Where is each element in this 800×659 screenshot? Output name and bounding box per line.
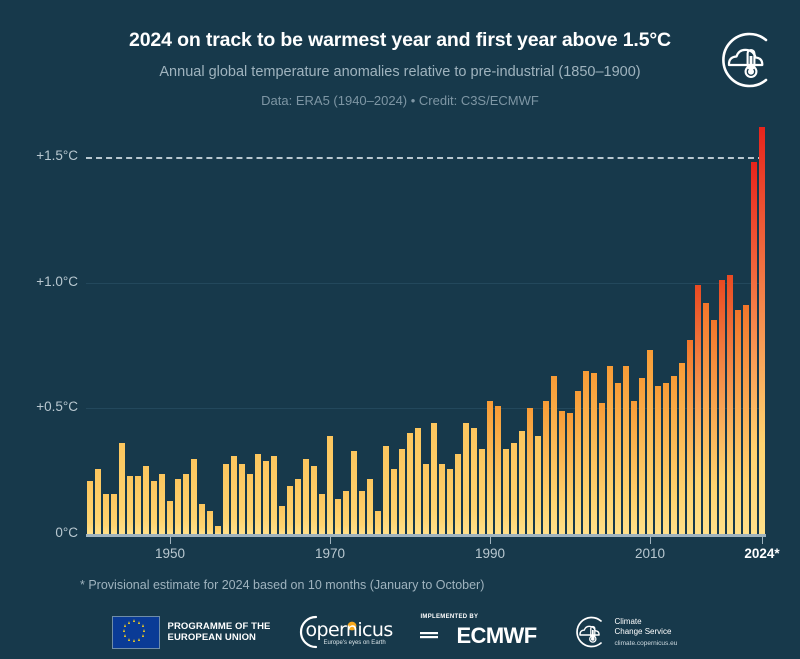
bar-1971 (335, 499, 341, 534)
c3s-logo: Climate Change Service climate.copernicu… (570, 611, 688, 653)
bar-1940 (87, 481, 93, 534)
bar-2017 (703, 303, 709, 534)
bar-2013 (671, 376, 677, 534)
c3s-logo-text: Climate Change Service climate.copernicu… (614, 617, 677, 647)
eu-star-icon (138, 638, 140, 641)
x-axis-tick-label: 1990 (475, 546, 505, 561)
bar-1945 (127, 476, 133, 534)
ecmwf-logo: IMPLEMENTED BY ECMWF (418, 612, 544, 652)
bar-1958 (231, 456, 237, 534)
eu-star-icon (123, 629, 125, 632)
bar-1962 (263, 461, 269, 534)
bar-1943 (111, 494, 117, 534)
bar-1952 (183, 474, 189, 534)
bar-1964 (279, 506, 285, 534)
bar-2022 (743, 305, 749, 534)
copernicus-wordmark: opernicus (305, 619, 392, 641)
bar-1988 (471, 428, 477, 534)
bar-1966 (295, 479, 301, 534)
cloud-thermometer-icon (710, 26, 778, 94)
bar-1967 (303, 459, 309, 534)
bar-2007 (623, 366, 629, 535)
bar-1995 (527, 408, 533, 534)
bar-1999 (559, 411, 565, 534)
bar-1990 (487, 401, 493, 534)
bar-1997 (543, 401, 549, 534)
x-axis-tick-label: 2024* (744, 546, 779, 561)
eu-star-icon (128, 621, 130, 624)
bar-2000 (567, 413, 573, 534)
bar-1991 (495, 406, 501, 534)
bar-1972 (343, 491, 349, 534)
bar-1986 (455, 454, 461, 534)
bar-1981 (415, 428, 421, 534)
bar-1982 (423, 464, 429, 534)
bar-1984 (439, 464, 445, 534)
bar-1996 (535, 436, 541, 534)
bar-series (86, 130, 766, 560)
bar-1998 (551, 376, 557, 534)
bar-1959 (239, 464, 245, 534)
bar-1970 (327, 436, 333, 534)
bar-1980 (407, 433, 413, 534)
bar-1973 (351, 451, 357, 534)
eu-star-icon (133, 639, 135, 642)
bar-1993 (511, 443, 517, 534)
footnote: * Provisional estimate for 2024 based on… (80, 578, 484, 592)
bar-2004 (599, 403, 605, 534)
bar-1957 (223, 464, 229, 534)
bar-2016 (695, 285, 701, 534)
bar-1961 (255, 454, 261, 534)
bar-2008 (631, 401, 637, 534)
eu-programme-logo: PROGRAMME OF THE EUROPEAN UNION (112, 611, 271, 653)
x-axis-tick-label: 1970 (315, 546, 345, 561)
bar-1976 (375, 511, 381, 534)
bar-2012 (663, 383, 669, 534)
chart-header: 2024 on track to be warmest year and fir… (0, 0, 800, 120)
bar-1949 (159, 474, 165, 534)
bar-1969 (319, 494, 325, 534)
x-axis-baseline (86, 534, 766, 537)
x-axis-tick (650, 537, 651, 544)
data-credit-line: Data: ERA5 (1940–2024) • Credit: C3S/ECM… (0, 93, 800, 108)
eu-star-icon (142, 634, 144, 637)
x-axis-tick (170, 537, 171, 544)
bar-1948 (151, 481, 157, 534)
c3s-line1: Climate (614, 617, 677, 627)
bar-1968 (311, 466, 317, 534)
c3s-url: climate.copernicus.eu (614, 640, 677, 647)
bar-2021 (735, 310, 741, 534)
bar-1947 (143, 466, 149, 534)
eu-star-icon (138, 621, 140, 624)
bar-2009 (639, 378, 645, 534)
bar-1955 (207, 511, 213, 534)
bar-2005 (607, 366, 613, 535)
bar-1978 (391, 469, 397, 534)
bar-2019 (719, 280, 725, 534)
bar-1951 (175, 479, 181, 534)
x-axis-tick (330, 537, 331, 544)
ecmwf-wordmark: ECMWF (456, 623, 536, 649)
y-axis-tick-label: +1.0°C (0, 274, 78, 289)
eu-star-icon (124, 634, 126, 637)
eu-logo-line1: PROGRAMME OF THE (168, 621, 271, 633)
bar-1950 (167, 501, 173, 534)
ecmwf-implemented-by-label: IMPLEMENTED BY (420, 614, 478, 620)
x-axis-tick (490, 537, 491, 544)
bar-1944 (119, 443, 125, 534)
bar-2024 (759, 127, 765, 534)
bar-2006 (615, 383, 621, 534)
eu-star-icon (142, 624, 144, 627)
eu-star-icon (133, 619, 135, 622)
bar-2018 (711, 320, 717, 534)
bar-1946 (135, 476, 141, 534)
bar-2015 (687, 340, 693, 534)
bar-2011 (655, 386, 661, 534)
y-axis-tick-label: 0°C (0, 525, 78, 540)
copernicus-tagline: Europe's eyes on Earth (323, 640, 385, 646)
bar-1994 (519, 431, 525, 534)
eu-logo-text: PROGRAMME OF THE EUROPEAN UNION (168, 621, 271, 644)
chart-subtitle: Annual global temperature anomalies rela… (0, 64, 800, 80)
eu-star-icon (124, 624, 126, 627)
bar-1985 (447, 469, 453, 534)
bar-2002 (583, 371, 589, 534)
bar-1977 (383, 446, 389, 534)
bar-1983 (431, 423, 437, 534)
c3s-line2: Change Service (614, 627, 677, 637)
bar-2001 (575, 391, 581, 534)
bar-1965 (287, 486, 293, 534)
x-axis-tick-label: 1950 (155, 546, 185, 561)
page-title: 2024 on track to be warmest year and fir… (0, 29, 800, 52)
eu-star-icon (143, 629, 145, 632)
chart-plot-area: 0°C+0.5°C+1.0°C+1.5°C 195019701990201020… (0, 130, 800, 560)
logo-strip: PROGRAMME OF THE EUROPEAN UNION opernicu… (0, 608, 800, 656)
bar-2003 (591, 373, 597, 534)
bar-1979 (399, 449, 405, 535)
bar-1942 (103, 494, 109, 534)
eu-star-icon (128, 638, 130, 641)
bar-1956 (215, 526, 221, 534)
x-axis-tick (762, 537, 763, 544)
copernicus-logo: opernicus Europe's eyes on Earth (296, 612, 392, 652)
bar-2023 (751, 162, 757, 534)
bar-1992 (503, 449, 509, 535)
eu-flag-icon (112, 616, 160, 649)
bar-1974 (359, 491, 365, 534)
x-axis-tick-label: 2010 (635, 546, 665, 561)
bar-1963 (271, 456, 277, 534)
bar-1953 (191, 459, 197, 534)
bar-1975 (367, 479, 373, 534)
bar-2020 (727, 275, 733, 534)
bar-2014 (679, 363, 685, 534)
eu-logo-line2: EUROPEAN UNION (168, 632, 271, 644)
bar-1960 (247, 474, 253, 534)
bar-1954 (199, 504, 205, 534)
bar-1989 (479, 449, 485, 535)
bar-1941 (95, 469, 101, 534)
bar-2010 (647, 350, 653, 534)
y-axis-tick-label: +0.5°C (0, 399, 78, 414)
y-axis-tick-label: +1.5°C (0, 148, 78, 163)
bar-1987 (463, 423, 469, 534)
